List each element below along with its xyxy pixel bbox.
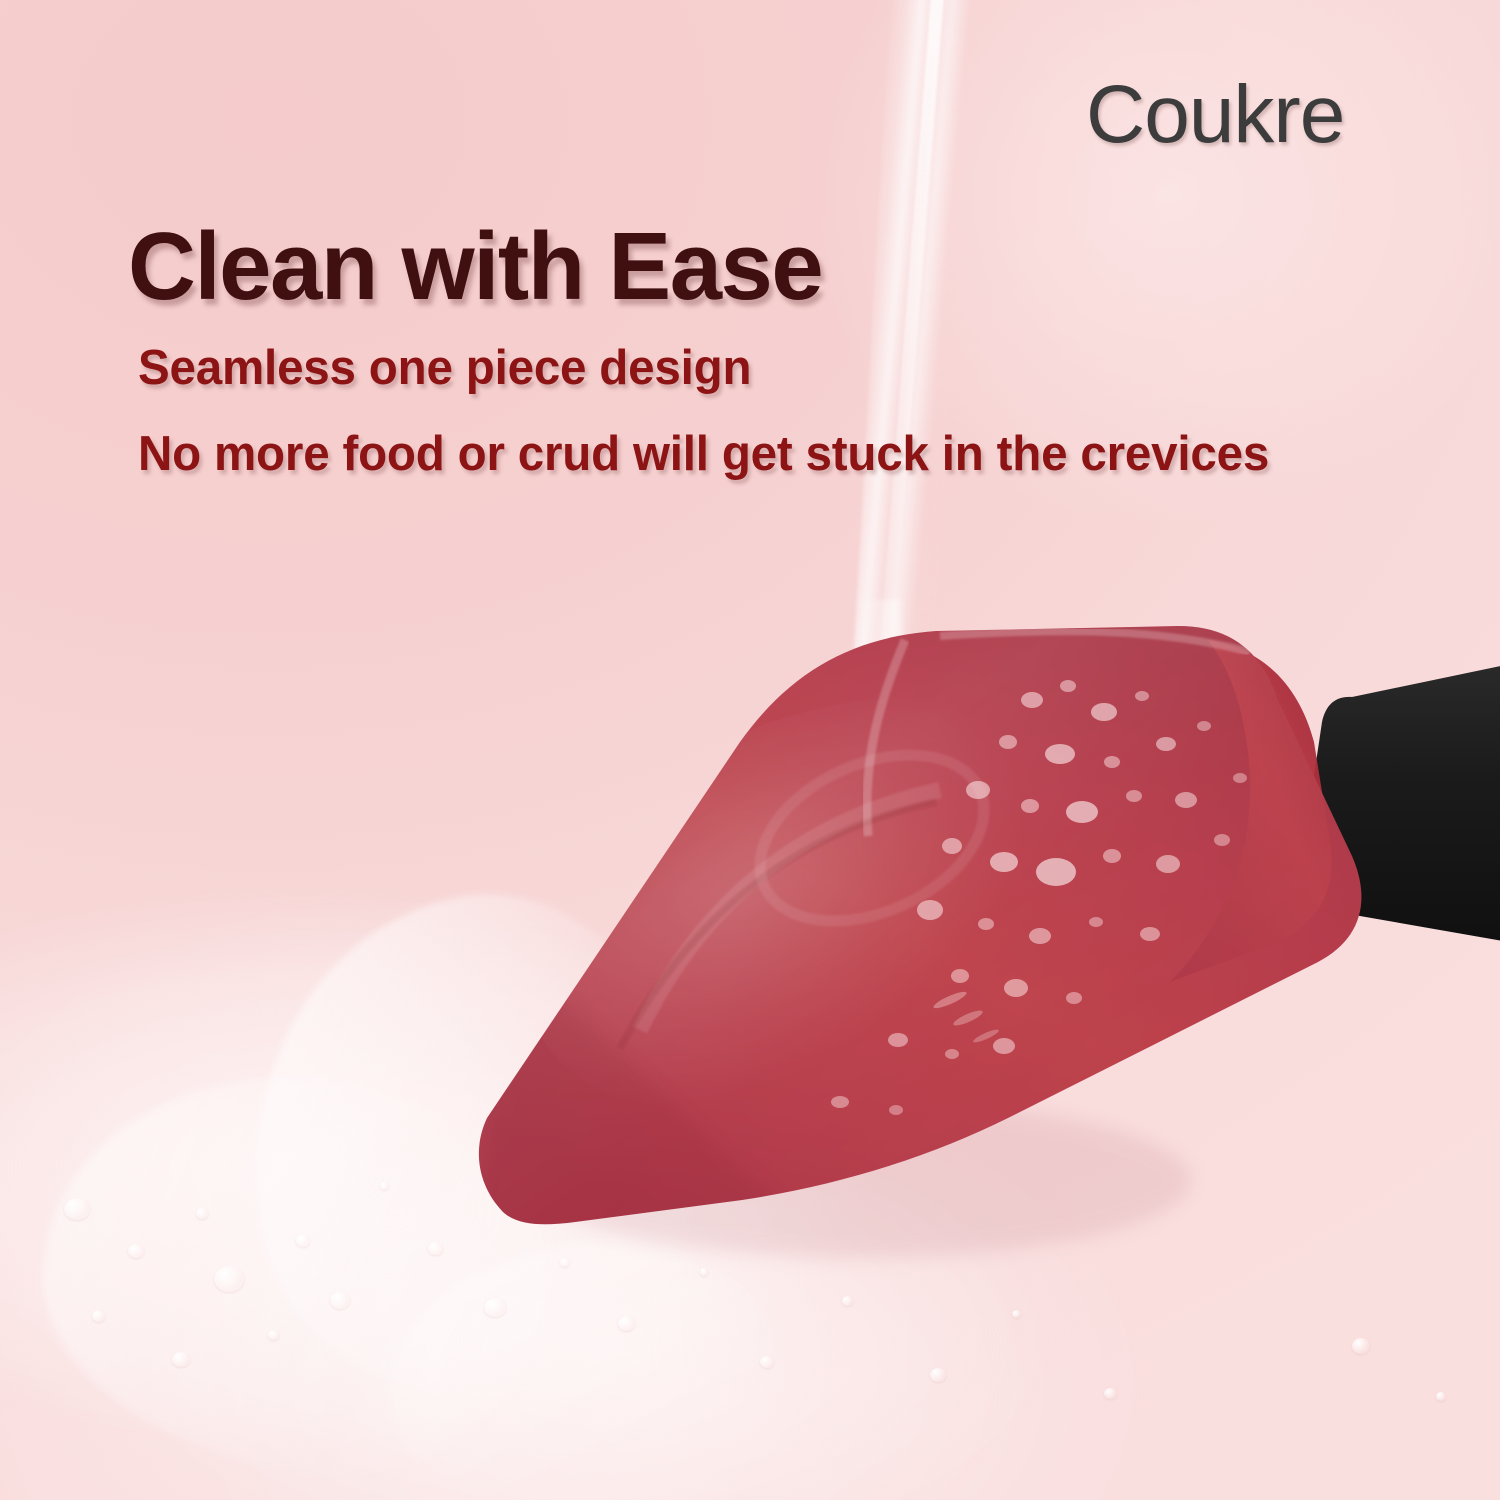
feature-line-1: Seamless one piece design (138, 340, 751, 396)
background-highlight-top-right (660, 0, 1500, 660)
feature-line-2: No more food or crud will get stuck in t… (138, 426, 1269, 482)
page-title: Clean with Ease (128, 212, 822, 322)
brand-logo-text: Coukre (1086, 68, 1344, 162)
product-marketing-image: Coukre Clean with Ease Seamless one piec… (0, 0, 1500, 1500)
